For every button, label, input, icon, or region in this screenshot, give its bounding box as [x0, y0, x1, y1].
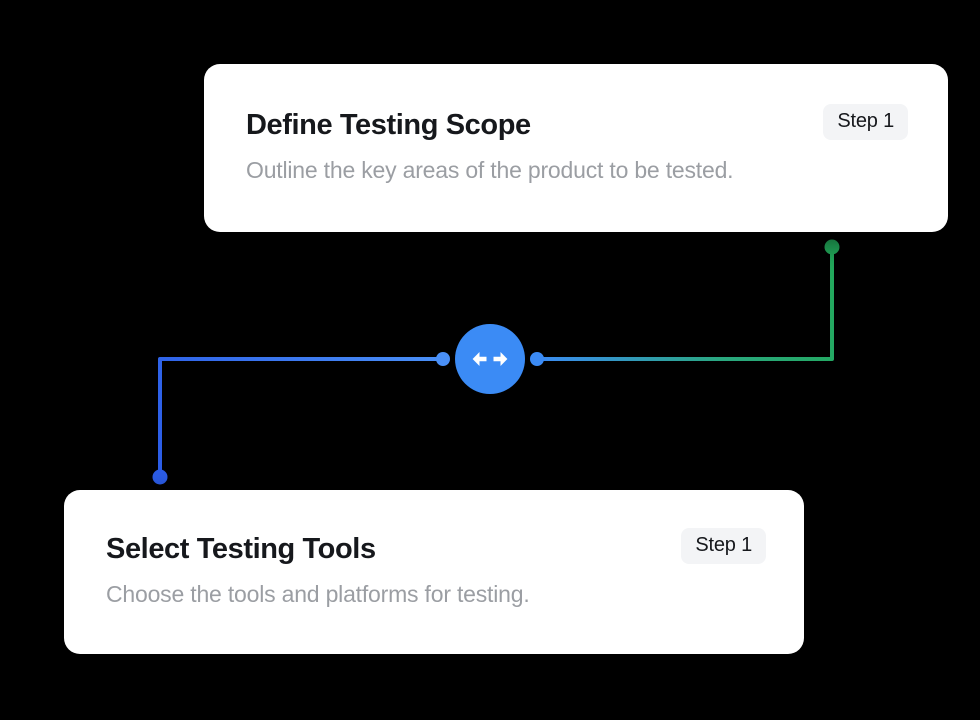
card-title: Define Testing Scope — [246, 110, 531, 140]
horizontal-double-arrow-icon — [470, 348, 510, 370]
diagram-canvas: Define Testing Scope Step 1 Outline the … — [0, 0, 980, 720]
card-subtitle: Outline the key areas of the product to … — [246, 156, 908, 185]
connector-path-right — [537, 247, 832, 359]
connector-dot-top-card — [825, 240, 840, 255]
card-title: Select Testing Tools — [106, 534, 376, 564]
card-header: Define Testing Scope Step 1 — [246, 110, 908, 140]
hub-node[interactable] — [455, 324, 525, 394]
card-define-testing-scope[interactable]: Define Testing Scope Step 1 Outline the … — [204, 64, 948, 232]
card-select-testing-tools[interactable]: Select Testing Tools Step 1 Choose the t… — [64, 490, 804, 654]
card-subtitle: Choose the tools and platforms for testi… — [106, 580, 766, 609]
step-badge: Step 1 — [681, 528, 766, 564]
step-badge: Step 1 — [823, 104, 908, 140]
connector-path-left — [160, 359, 443, 477]
connector-dot-bottom-card — [153, 470, 168, 485]
connector-dot-hub-right — [530, 352, 544, 366]
connector-dot-hub-left — [436, 352, 450, 366]
card-header: Select Testing Tools Step 1 — [106, 534, 766, 564]
